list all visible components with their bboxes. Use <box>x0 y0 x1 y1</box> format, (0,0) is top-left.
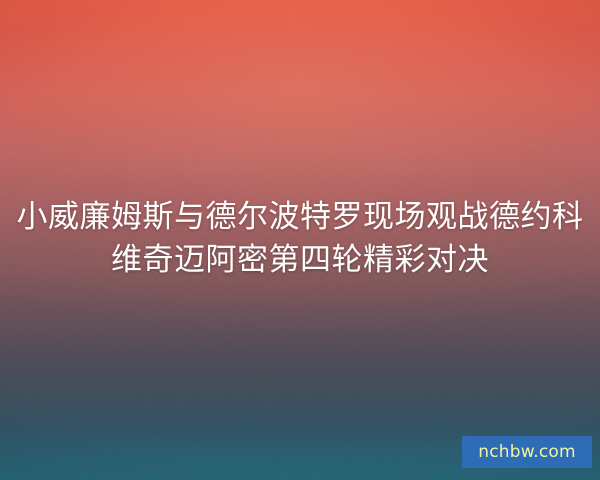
watermark-badge[interactable]: nchbw.com <box>462 436 592 468</box>
headline-line-1: 小威廉姆斯与德尔波特罗现场观战德约科 <box>16 196 584 239</box>
page-title: 小威廉姆斯与德尔波特罗现场观战德约科 维奇迈阿密第四轮精彩对决 <box>0 196 600 282</box>
watermark-label: nchbw.com <box>478 444 576 461</box>
headline-line-2: 维奇迈阿密第四轮精彩对决 <box>16 239 584 282</box>
article-cover-card: 小威廉姆斯与德尔波特罗现场观战德约科 维奇迈阿密第四轮精彩对决 nchbw.co… <box>0 0 600 480</box>
